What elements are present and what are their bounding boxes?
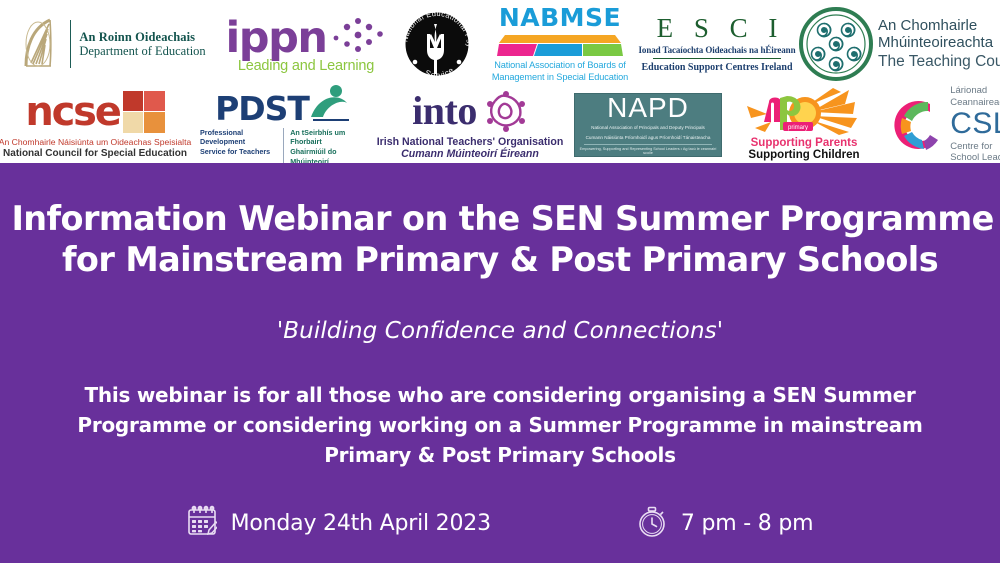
page-title: Information Webinar on the SEN Summer Pr… bbox=[8, 163, 993, 282]
webinar-date-label: Monday 24th April 2023 bbox=[231, 511, 491, 536]
pdst-figure-icon bbox=[309, 83, 351, 123]
webinar-time: 7 pm - 8 pm bbox=[637, 505, 814, 543]
logo-ippn: ippn Leading and Learning bbox=[232, 7, 380, 81]
napd-subtitle-irish: Cumann Náisiúnta Príomhoidí agus Príomho… bbox=[586, 135, 711, 142]
logo-napd: NAPD National Association of Principals … bbox=[574, 93, 722, 157]
pdst-subtitle-irish: An tSeirbhís um Fhorbairt Ghairmiúil do … bbox=[283, 128, 366, 167]
npc-line2: Supporting Children bbox=[748, 149, 859, 161]
esci-wordmark: E S C I bbox=[650, 15, 785, 42]
into-subtitle-irish: Cumann Múinteoirí Éireann bbox=[401, 148, 539, 160]
logo-green-spiral-emblem bbox=[796, 4, 876, 84]
ippn-tagline: Leading and Learning bbox=[238, 58, 374, 74]
csl-bottom-line1: Centre for bbox=[950, 141, 1000, 152]
ippn-wordmark: ippn bbox=[226, 21, 327, 56]
into-mark: into bbox=[412, 90, 528, 132]
irish-harp-icon bbox=[18, 14, 62, 74]
esci-rule bbox=[653, 58, 781, 59]
logo-row-1: An Roinn Oideachais Department of Educat… bbox=[0, 2, 1000, 86]
page-title-line2: for Mainstream Primary & Post Primary Sc… bbox=[62, 240, 938, 280]
page-title-line1: Information Webinar on the SEN Summer Pr… bbox=[11, 199, 1000, 239]
webinar-date: Monday 24th April 2023 bbox=[187, 505, 491, 542]
pdst-subtitle: Professional Development Service for Tea… bbox=[200, 128, 366, 167]
napd-badge: NAPD National Association of Principals … bbox=[574, 93, 722, 157]
esci-subtitle-english: Education Support Centres Ireland bbox=[641, 62, 792, 73]
pdst-subtitle-irish-line1: An tSeirbhís um Fhorbairt bbox=[290, 128, 366, 147]
ncse-mark: ncse bbox=[25, 91, 164, 133]
nabmse-wordmark: NABMSE bbox=[499, 5, 621, 30]
pdst-subtitle-english-line1: Professional Development bbox=[200, 128, 277, 147]
logo-department-of-education: An Roinn Oideachais Department of Educat… bbox=[14, 11, 210, 77]
doe-line-english: Department of Education bbox=[79, 44, 205, 58]
napd-wordmark: NAPD bbox=[607, 94, 689, 122]
logo-row-2: ncse An Chomhairle Náisiúnta um Oideacha… bbox=[0, 86, 1000, 163]
green-spiral-icon bbox=[796, 4, 876, 84]
webinar-poster: An Roinn Oideachais Department of Educat… bbox=[0, 0, 1000, 563]
webinar-meta-row: Monday 24th April 2023 bbox=[0, 470, 1000, 543]
ncse-subtitle-irish: An Chomhairle Náisiúnta um Oideachas Spe… bbox=[0, 137, 191, 147]
napd-subtitle-english: National Association of Principals and D… bbox=[591, 125, 705, 132]
npc-sun-icon: primary bbox=[745, 88, 863, 136]
webinar-time-label: 7 pm - 8 pm bbox=[681, 511, 814, 536]
csl-c-icon bbox=[884, 94, 946, 156]
logo-nabmse: NABMSE National Association of Boards of… bbox=[488, 6, 632, 82]
teaching-council-text: An Chomhairle Mhúinteoireachta The Teach… bbox=[878, 17, 1000, 71]
teaching-council-line2: Mhúinteoireachta bbox=[878, 34, 1000, 51]
pdst-subtitle-english-line2: Service for Teachers bbox=[200, 147, 277, 157]
into-people-circle-icon bbox=[484, 90, 528, 132]
ippn-mark: ippn bbox=[226, 14, 387, 56]
logo-divider bbox=[70, 20, 71, 68]
napd-tagline: Empowering, Supporting and Representing … bbox=[575, 147, 721, 155]
svg-text:primary: primary bbox=[788, 125, 808, 131]
teaching-council-line1: An Chomhairle bbox=[878, 17, 1000, 34]
csl-text: Lárionad Ceannaireachta Scoile CSL Centr… bbox=[950, 85, 1000, 164]
logo-teaching-council: An Chomhairle Mhúinteoireachta The Teach… bbox=[878, 8, 1000, 80]
webinar-description: This webinar is for all those who are co… bbox=[35, 344, 965, 470]
csl-top-line1: Lárionad bbox=[950, 85, 1000, 96]
teaching-council-line3: The Teaching Council bbox=[878, 53, 1000, 71]
doe-line-irish: An Roinn Oideachais bbox=[79, 30, 205, 44]
ncse-wordmark: ncse bbox=[25, 95, 119, 129]
page-subtitle: 'Building Confidence and Connections' bbox=[0, 282, 1000, 344]
logo-esci: E S C I Ionad Tacaíochta Oideachais na h… bbox=[642, 8, 792, 80]
logo-csl: Lárionad Ceannaireachta Scoile CSL Centr… bbox=[880, 89, 1000, 161]
neps-seal-icon: National Educational Psychological Servi… bbox=[395, 4, 479, 84]
logo-npc-primary: primary Supporting Parents Supporting Ch… bbox=[738, 88, 870, 162]
pdst-wordmark: PDST bbox=[215, 95, 309, 123]
pdst-subtitle-english: Professional Development Service for Tea… bbox=[200, 128, 277, 167]
calendar-icon bbox=[187, 505, 217, 542]
ncse-grid-icon bbox=[123, 91, 165, 133]
logo-into: into bbox=[380, 89, 560, 161]
pdst-mark: PDST bbox=[215, 83, 351, 123]
nabmse-bars-icon bbox=[497, 33, 623, 58]
nabmse-subtitle-line1: National Association of Boards of bbox=[494, 60, 626, 71]
logo-ncse: ncse An Chomhairle Náisiúnta um Oideacha… bbox=[6, 89, 184, 161]
napd-rule bbox=[584, 144, 712, 145]
into-subtitle-english: Irish National Teachers' Organisation bbox=[377, 136, 564, 148]
logo-neps: National Educational Psychological Servi… bbox=[394, 4, 480, 84]
partner-logo-banner: An Roinn Oideachais Department of Educat… bbox=[0, 0, 1000, 163]
csl-wordmark: CSL bbox=[950, 109, 1000, 139]
nabmse-subtitle-line2: Management in Special Education bbox=[492, 72, 628, 83]
department-of-education-text: An Roinn Oideachais Department of Educat… bbox=[79, 30, 205, 58]
npc-line1: Supporting Parents bbox=[751, 137, 858, 149]
stopwatch-icon bbox=[637, 505, 667, 543]
ippn-dots-icon bbox=[330, 14, 386, 56]
ncse-subtitle-english: National Council for Special Education bbox=[3, 148, 187, 159]
esci-subtitle-irish: Ionad Tacaíochta Oideachais na hÉireann bbox=[639, 45, 796, 55]
into-wordmark: into bbox=[412, 93, 477, 129]
webinar-details-panel: Information Webinar on the SEN Summer Pr… bbox=[0, 163, 1000, 563]
logo-pdst: PDST Professional Development Service fo… bbox=[200, 90, 366, 160]
